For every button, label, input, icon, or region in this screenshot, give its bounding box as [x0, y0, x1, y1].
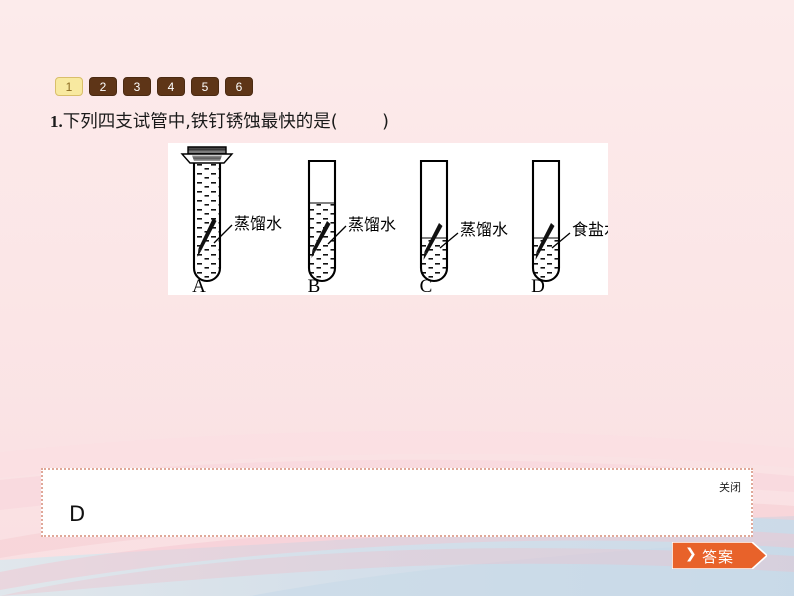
badge-6-label: 6: [236, 81, 243, 93]
question-badge-row: 1 2 3 4 5 6: [55, 77, 253, 96]
tube-c-liquid-label: 蒸馏水: [460, 220, 508, 239]
answer-button-shape: [672, 542, 767, 569]
show-answer-button[interactable]: ❯ 答案: [672, 542, 767, 569]
badge-1-label: 1: [66, 81, 73, 93]
badge-4[interactable]: 4: [157, 77, 185, 96]
badge-6[interactable]: 6: [225, 77, 253, 96]
badge-4-label: 4: [168, 81, 175, 93]
tube-a-liquid-label: 蒸馏水: [234, 214, 282, 233]
badge-3-label: 3: [134, 81, 141, 93]
badge-1[interactable]: 1: [55, 77, 83, 96]
badge-5[interactable]: 5: [191, 77, 219, 96]
test-tube-diagram: 蒸馏水 A 蒸馏水 B: [168, 143, 608, 295]
badge-2-label: 2: [100, 81, 107, 93]
question-number: 1.: [50, 112, 63, 131]
test-tube-diagram-panel: 蒸馏水 A 蒸馏水 B: [168, 143, 608, 295]
answer-value: D: [69, 502, 85, 526]
question-text: 1.下列四支试管中,铁钉锈蚀最快的是( ): [50, 108, 389, 133]
tube-d-liquid-label: 食盐水: [572, 220, 608, 239]
tube-b-label: B: [308, 276, 321, 295]
close-button[interactable]: 关闭: [719, 479, 741, 495]
badge-3[interactable]: 3: [123, 77, 151, 96]
tube-d-label: D: [531, 276, 545, 295]
tube-c-label: C: [420, 276, 433, 295]
badge-2[interactable]: 2: [89, 77, 117, 96]
tube-b-liquid-label: 蒸馏水: [348, 215, 396, 234]
answer-panel: 关闭 D: [41, 468, 753, 537]
tube-a-label: A: [192, 276, 206, 295]
question-body: 下列四支试管中,铁钉锈蚀最快的是( ): [63, 112, 389, 132]
badge-5-label: 5: [202, 81, 209, 93]
